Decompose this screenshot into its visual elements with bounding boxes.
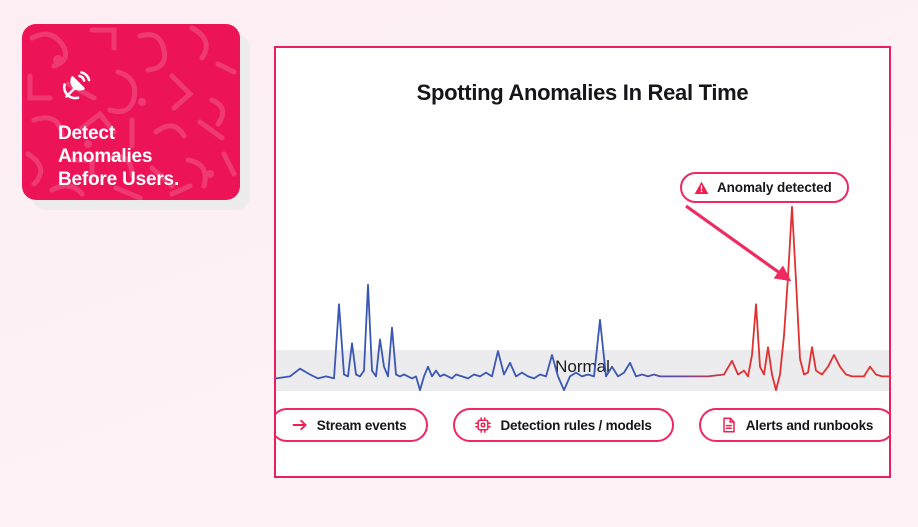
chip-detection-rules[interactable]: Detection rules / models (453, 408, 673, 442)
page-root: Detect Anomalies Before Users. Spotting … (0, 0, 918, 527)
chip-stream-events[interactable]: Stream events (274, 408, 428, 442)
promo-title-line-2: Anomalies (58, 145, 233, 168)
chart-panel: Spotting Anomalies In Real Time Normal (274, 46, 891, 478)
chart-title: Spotting Anomalies In Real Time (276, 80, 889, 106)
chip-label-detection-rules: Detection rules / models (500, 418, 651, 433)
waveform-line (276, 207, 889, 390)
promo-card: Detect Anomalies Before Users. (22, 24, 240, 200)
promo-title-line-1: Detect (58, 122, 233, 145)
promo-title-line-3: Before Users. (58, 168, 233, 191)
cpu-chip-icon (475, 417, 491, 433)
chips-row: Stream events (276, 408, 889, 442)
warning-triangle-icon (694, 181, 709, 195)
anomaly-detected-badge[interactable]: Anomaly detected (680, 172, 849, 203)
document-icon (721, 417, 737, 433)
chip-label-alerts-runbooks: Alerts and runbooks (746, 418, 873, 433)
satellite-dish-icon (60, 68, 96, 104)
anomaly-badge-label: Anomaly detected (717, 180, 832, 195)
chip-alerts-runbooks[interactable]: Alerts and runbooks (699, 408, 891, 442)
arrow-right-icon (292, 417, 308, 433)
promo-title: Detect Anomalies Before Users. (58, 122, 233, 191)
chip-label-stream-events: Stream events (317, 418, 407, 433)
